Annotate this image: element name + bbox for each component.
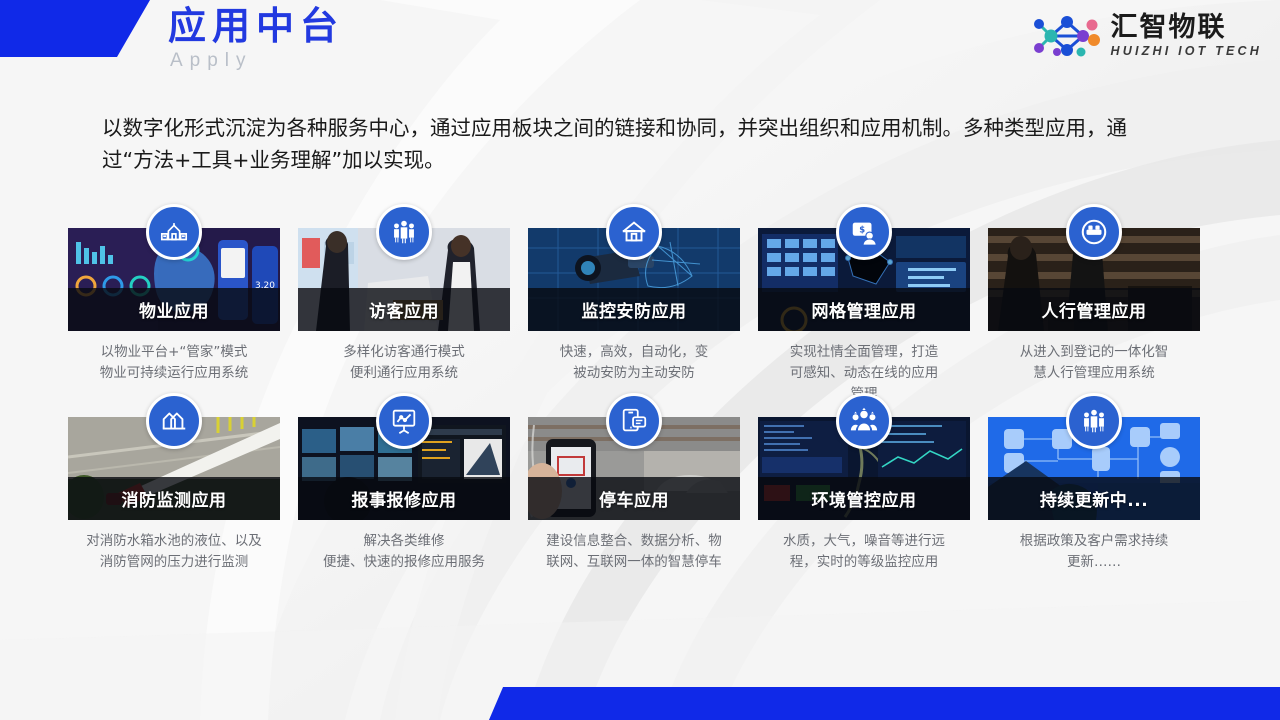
- page-subtitle: Apply: [170, 49, 344, 73]
- application-card[interactable]: 网格管理应用$实现社情全面管理，打造 可感知、动态在线的应用 管理: [758, 228, 970, 405]
- card-label-band: 人行管理应用: [988, 288, 1200, 331]
- card-description: 对消防水箱水池的液位、以及 消防管网的压力进行监测: [68, 531, 280, 573]
- card-label-band: 访客应用: [298, 288, 510, 331]
- chart-board-icon: [376, 393, 432, 449]
- warehouse-icon: [146, 393, 202, 449]
- card-label-band: 消防监测应用: [68, 477, 280, 520]
- house-buildings-icon: [146, 204, 202, 260]
- card-label-band: 停车应用: [528, 477, 740, 520]
- home-shield-icon: [606, 204, 662, 260]
- application-card[interactable]: 消防监测应用对消防水箱水池的液位、以及 消防管网的压力进行监测: [68, 417, 280, 573]
- page-header: 应用中台 Apply: [0, 0, 1280, 95]
- card-label-band: 环境管控应用: [758, 477, 970, 520]
- card-description: 快速，高效，自动化，变 被动安防为主动安防: [528, 342, 740, 384]
- application-card-grid: 3.20物业应用以物业平台+“管家”模式 物业可持续运行应用系统访客应用多样化访…: [68, 228, 1216, 573]
- card-description: 根据政策及客户需求持续 更新……: [988, 531, 1200, 573]
- card-person-icon: $: [836, 204, 892, 260]
- card-label-band: 持续更新中...: [988, 477, 1200, 520]
- molecule-network-logo-icon: [1029, 12, 1105, 60]
- three-people-icon: [836, 393, 892, 449]
- card-description: 水质，大气，噪音等进行远 程，实时的等级监控应用: [758, 531, 970, 573]
- card-label: 停车应用: [599, 486, 669, 511]
- card-description: 解决各类维修 便捷、快速的报修应用服务: [298, 531, 510, 573]
- card-label: 人行管理应用: [1042, 297, 1147, 322]
- mobile-message-icon: [606, 393, 662, 449]
- application-card[interactable]: 监控安防应用快速，高效，自动化，变 被动安防为主动安防: [528, 228, 740, 405]
- application-card[interactable]: 持续更新中...根据政策及客户需求持续 更新……: [988, 417, 1200, 573]
- card-label: 报事报修应用: [352, 486, 457, 511]
- brand-logo: 汇智物联 HUIZHI IOT TECH: [1029, 12, 1262, 60]
- card-description: 建设信息整合、数据分析、物 联网、互联网一体的智慧停车: [528, 531, 740, 573]
- title-block: 应用中台 Apply: [168, 4, 344, 73]
- application-card[interactable]: 访客应用多样化访客通行模式 便利通行应用系统: [298, 228, 510, 405]
- intro-paragraph: 以数字化形式沉淀为各种服务中心，通过应用板块之间的链接和协同，并突出组织和应用机…: [102, 112, 1172, 176]
- card-description: 以物业平台+“管家”模式 物业可持续运行应用系统: [68, 342, 280, 384]
- card-label: 监控安防应用: [582, 297, 687, 322]
- header-corner-accent: [0, 0, 150, 57]
- card-label-band: 物业应用: [68, 288, 280, 331]
- card-label: 网格管理应用: [812, 297, 917, 322]
- card-label: 物业应用: [139, 297, 209, 322]
- logo-text-cn: 汇智物联: [1111, 13, 1262, 43]
- application-card[interactable]: 停车应用建设信息整合、数据分析、物 联网、互联网一体的智慧停车: [528, 417, 740, 573]
- people-group-icon: [1066, 393, 1122, 449]
- logo-text-en: HUIZHI IOT TECH: [1111, 43, 1262, 59]
- card-label: 消防监测应用: [122, 486, 227, 511]
- card-description: 多样化访客通行模式 便利通行应用系统: [298, 342, 510, 384]
- application-card[interactable]: 环境管控应用水质，大气，噪音等进行远 程，实时的等级监控应用: [758, 417, 970, 573]
- application-card[interactable]: 人行管理应用从进入到登记的一体化智 慧人行管理应用系统: [988, 228, 1200, 405]
- card-label: 环境管控应用: [812, 486, 917, 511]
- card-label: 持续更新中...: [1040, 486, 1148, 511]
- page-title: 应用中台: [168, 4, 344, 48]
- card-label-band: 监控安防应用: [528, 288, 740, 331]
- card-label-band: 报事报修应用: [298, 477, 510, 520]
- card-description: 从进入到登记的一体化智 慧人行管理应用系统: [988, 342, 1200, 384]
- footer-accent-bar: [0, 687, 1280, 720]
- gate-turnstile-icon: [1066, 204, 1122, 260]
- card-label: 访客应用: [369, 297, 439, 322]
- application-card[interactable]: 3.20物业应用以物业平台+“管家”模式 物业可持续运行应用系统: [68, 228, 280, 405]
- card-label-band: 网格管理应用: [758, 288, 970, 331]
- people-group-icon: [376, 204, 432, 260]
- application-card[interactable]: 报事报修应用解决各类维修 便捷、快速的报修应用服务: [298, 417, 510, 573]
- svg-text:$: $: [859, 224, 865, 234]
